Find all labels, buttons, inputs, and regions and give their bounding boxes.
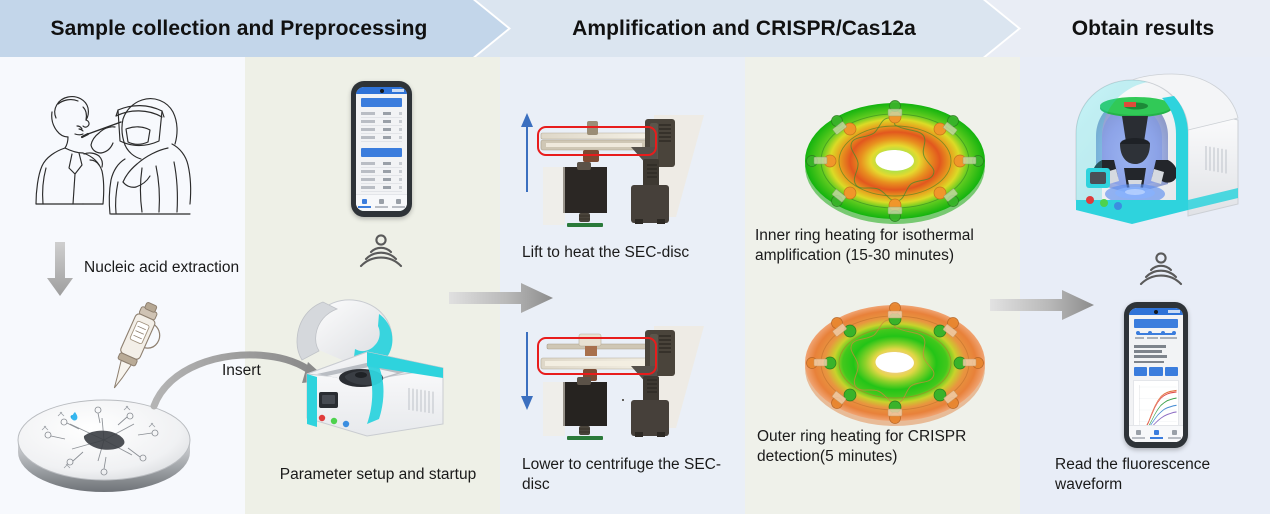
panel3-top-caption: Lift to heat the SEC-disc bbox=[522, 243, 737, 263]
phone-screen-setup bbox=[356, 87, 407, 211]
workflow-figure: Sample collection and Preprocessing Ampl… bbox=[0, 0, 1270, 514]
phone-parameter-setup[interactable] bbox=[351, 81, 412, 217]
setting-row bbox=[361, 176, 402, 184]
status-bar bbox=[356, 87, 407, 94]
tab-amplification[interactable] bbox=[1149, 367, 1162, 376]
nav-parameters[interactable] bbox=[1129, 426, 1147, 442]
tab-all[interactable] bbox=[1134, 367, 1147, 376]
stage-banner-3: Obtain results bbox=[986, 0, 1270, 57]
nav-settings[interactable] bbox=[1165, 426, 1183, 442]
camera-notch bbox=[1154, 310, 1158, 314]
extraction-arrow-icon bbox=[46, 242, 74, 297]
stage-label-2: Amplification and CRISPR/Cas12a bbox=[572, 17, 916, 41]
panel2-caption: Parameter setup and startup bbox=[258, 465, 498, 485]
signal-icon bbox=[1168, 310, 1180, 313]
stage-label-3: Obtain results bbox=[1072, 17, 1215, 41]
setting-row bbox=[361, 118, 402, 126]
swab-sampling-illustration bbox=[22, 82, 227, 222]
progress-stepper bbox=[1134, 331, 1178, 342]
wireless-signal-icon-results bbox=[1138, 250, 1184, 290]
section-header-crispr bbox=[361, 148, 402, 157]
chart-tab-row[interactable] bbox=[1134, 367, 1178, 376]
bottom-nav bbox=[1129, 425, 1183, 442]
lift-mechanism-illustration bbox=[519, 107, 719, 237]
insert-label: Insert bbox=[222, 361, 261, 381]
thermal-disc-outer bbox=[800, 297, 990, 432]
signal-icon bbox=[392, 89, 404, 92]
nav-monitoring[interactable] bbox=[1147, 426, 1165, 442]
section-header-amplification bbox=[361, 98, 402, 107]
setting-row bbox=[361, 184, 402, 192]
down-arrow-icon bbox=[521, 396, 533, 410]
thermal-disc-inner bbox=[800, 95, 990, 230]
connector-arrow-4-5 bbox=[990, 288, 1095, 322]
nav-parameters[interactable] bbox=[356, 195, 373, 211]
phone-results[interactable] bbox=[1124, 302, 1188, 448]
tab-fluorescence[interactable] bbox=[1165, 367, 1178, 376]
up-arrow-icon bbox=[521, 113, 533, 127]
fluorescence-reader-illustration bbox=[1040, 72, 1260, 247]
connector-arrow-2-3 bbox=[449, 281, 554, 315]
panel5-caption: Read the fluorescence waveform bbox=[1055, 455, 1265, 496]
phone-screen-results bbox=[1129, 308, 1183, 442]
status-bar bbox=[1129, 308, 1183, 315]
panel4-top-caption: Inner ring heating for isothermal amplif… bbox=[755, 226, 1023, 267]
panel3-bottom-caption: Lower to centrifuge the SEC-disc bbox=[522, 455, 727, 496]
panel4-bottom-caption: Outer ring heating for CRISPR detection(… bbox=[757, 427, 1019, 468]
bottom-nav bbox=[356, 194, 407, 211]
setting-row bbox=[361, 126, 402, 134]
lower-mechanism-illustration bbox=[519, 318, 719, 448]
status-readouts bbox=[1134, 345, 1178, 363]
stage-banner-1: Sample collection and Preprocessing bbox=[0, 0, 508, 57]
instrument-open-illustration bbox=[283, 292, 473, 437]
operating-status-header bbox=[1134, 319, 1178, 328]
wireless-signal-icon-setup bbox=[358, 232, 404, 272]
setting-row bbox=[361, 168, 402, 176]
stage-header: Sample collection and Preprocessing Ampl… bbox=[0, 0, 1270, 57]
extraction-label: Nucleic acid extraction bbox=[84, 258, 249, 278]
setting-row bbox=[361, 134, 402, 142]
camera-notch bbox=[380, 89, 384, 93]
nav-settings[interactable] bbox=[390, 195, 407, 211]
nav-monitoring[interactable] bbox=[373, 195, 390, 211]
setting-row bbox=[361, 160, 402, 168]
setting-row bbox=[361, 110, 402, 118]
stage-label-1: Sample collection and Preprocessing bbox=[51, 17, 428, 41]
stage-banner-2: Amplification and CRISPR/Cas12a bbox=[476, 0, 1018, 57]
